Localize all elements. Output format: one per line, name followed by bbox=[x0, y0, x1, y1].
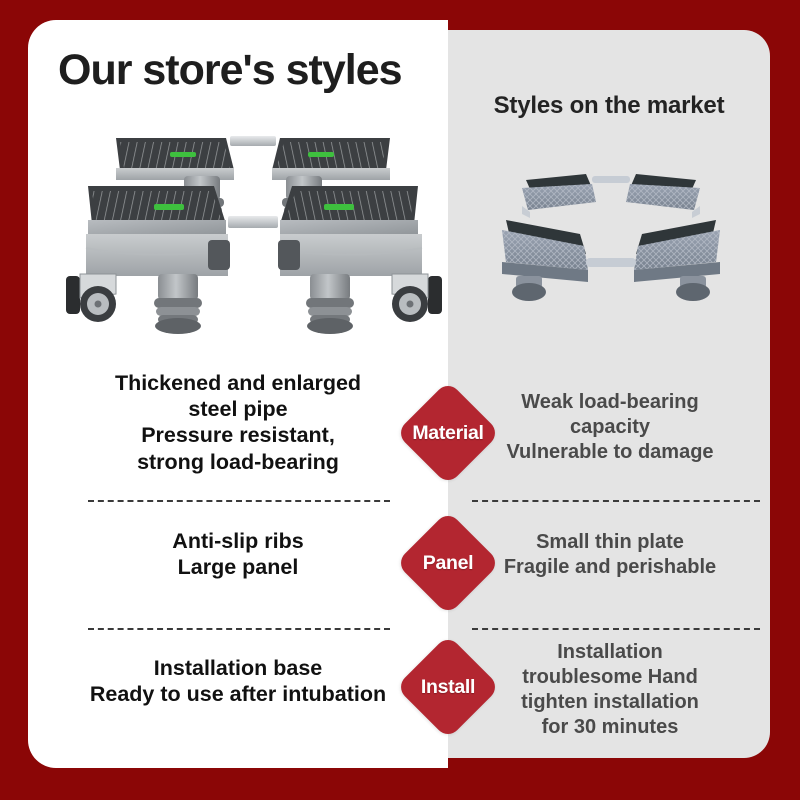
page-title: Our store's styles bbox=[58, 48, 438, 93]
row-install-right: Installation troublesome Hand tighten in… bbox=[460, 640, 760, 740]
infographic-stage: Our store's styles Styles on the market bbox=[0, 0, 800, 800]
row-panel-right-line-1: Small thin plate bbox=[460, 530, 760, 555]
row-install-left-line-1: Installation base bbox=[38, 655, 438, 681]
row-panel-right: Small thin plate Fragile and perishable bbox=[460, 530, 760, 580]
row-install-left: Installation base Ready to use after int… bbox=[38, 655, 438, 707]
row-panel-right-line-2: Fragile and perishable bbox=[460, 555, 760, 580]
market-column-title: Styles on the market bbox=[448, 92, 770, 120]
row-install-right-line-4: for 30 minutes bbox=[460, 715, 760, 740]
separator-right-1 bbox=[472, 500, 760, 502]
row-material-right: Weak load-bearing capacity Vulnerable to… bbox=[460, 390, 760, 465]
market-product-image bbox=[488, 158, 733, 323]
row-install-right-line-1: Installation bbox=[460, 640, 760, 665]
row-panel-left-line-2: Large panel bbox=[38, 554, 438, 580]
row-material-right-line-2: capacity bbox=[460, 415, 760, 440]
separator-left-2 bbox=[88, 628, 390, 630]
separator-right-2 bbox=[472, 628, 760, 630]
row-material-left-line-3: Pressure resistant, bbox=[38, 422, 438, 448]
row-panel-left-line-1: Anti-slip ribs bbox=[38, 528, 438, 554]
row-panel-left: Anti-slip ribs Large panel bbox=[38, 528, 438, 580]
separator-left-1 bbox=[88, 500, 390, 502]
row-material-right-line-3: Vulnerable to damage bbox=[460, 440, 760, 465]
caster-wheel bbox=[66, 274, 116, 322]
caster-wheel bbox=[392, 274, 442, 322]
row-install-right-line-2: troublesome Hand bbox=[460, 665, 760, 690]
row-material-right-line-1: Weak load-bearing bbox=[460, 390, 760, 415]
row-material-left-line-4: strong load-bearing bbox=[38, 449, 438, 475]
row-material-left-line-1: Thickened and enlarged bbox=[38, 370, 438, 396]
row-material-left-line-2: steel pipe bbox=[38, 396, 438, 422]
row-install-right-line-3: tighten installation bbox=[460, 690, 760, 715]
row-material-left: Thickened and enlarged steel pipe Pressu… bbox=[38, 370, 438, 475]
our-store-product-image bbox=[58, 128, 448, 343]
row-install-left-line-2: Ready to use after intubation bbox=[38, 681, 438, 707]
